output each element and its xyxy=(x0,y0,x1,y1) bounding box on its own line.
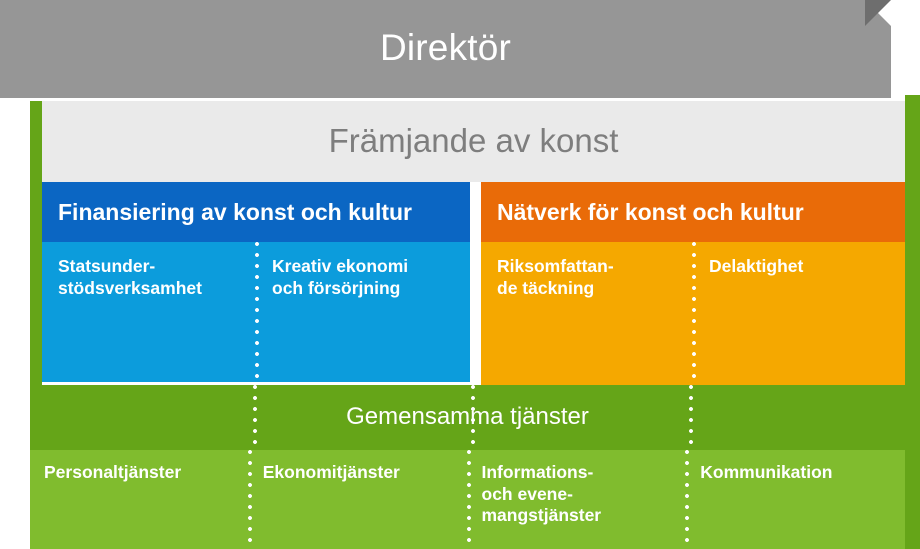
shared-divider-tick-1 xyxy=(253,385,257,450)
service-communication: Kommunikation xyxy=(686,450,905,549)
unit-state-subsidy: Statsunder- stödsverksamhet xyxy=(42,242,256,382)
promotion-label: Främjande av konst xyxy=(329,124,619,159)
unit-creative-economy: Kreativ ekonomi och försörjning xyxy=(256,242,470,382)
division-financing: Finansiering av konst och kultur Statsun… xyxy=(42,182,470,382)
service-finance-label: Ekonomitjänster xyxy=(263,462,458,484)
shared-divider-tick-3 xyxy=(689,385,693,450)
service-communication-label: Kommunikation xyxy=(700,462,895,484)
division-network: Nätverk för konst och kultur Riksomfatta… xyxy=(481,182,905,385)
unit-creative-economy-label: Kreativ ekonomi och försörjning xyxy=(272,256,456,299)
org-chart-diagram: Direktör Främjande av konst Finansiering… xyxy=(0,0,920,549)
unit-participation: Delaktighet xyxy=(693,242,905,385)
service-information-events: Informations- och evene- mangstjänster xyxy=(468,450,687,549)
unit-participation-label: Delaktighet xyxy=(709,256,891,278)
unit-nationwide-coverage-label: Riksomfattan- de täckning xyxy=(497,256,679,299)
unit-nationwide-coverage: Riksomfattan- de täckning xyxy=(481,242,693,385)
shared-services-row: Personaltjänster Ekonomitjänster Informa… xyxy=(30,450,905,549)
shared-divider-tick-2 xyxy=(471,385,475,450)
service-information-events-label: Informations- och evene- mangstjänster xyxy=(482,462,677,527)
unit-state-subsidy-label: Statsunder- stödsverksamhet xyxy=(58,256,242,299)
shared-services-label: Gemensamma tjänster xyxy=(346,405,589,431)
service-hr: Personaltjänster xyxy=(30,450,249,549)
promotion-band: Främjande av konst xyxy=(42,101,905,182)
division-network-title: Nätverk för konst och kultur xyxy=(497,201,804,224)
service-finance: Ekonomitjänster xyxy=(249,450,468,549)
division-financing-units: Statsunder- stödsverksamhet Kreativ ekon… xyxy=(42,242,470,382)
right-green-accent-strip xyxy=(905,95,920,549)
division-financing-title: Finansiering av konst och kultur xyxy=(58,201,412,224)
page-fold-corner-icon xyxy=(865,0,891,26)
division-network-header: Nätverk för konst och kultur xyxy=(481,182,905,242)
shared-services-band: Gemensamma tjänster xyxy=(30,385,905,450)
division-network-units: Riksomfattan- de täckning Delaktighet xyxy=(481,242,905,385)
director-bar: Direktör xyxy=(0,0,891,98)
service-hr-label: Personaltjänster xyxy=(44,462,239,484)
division-financing-header: Finansiering av konst och kultur xyxy=(42,182,470,242)
director-label: Direktör xyxy=(380,29,511,69)
